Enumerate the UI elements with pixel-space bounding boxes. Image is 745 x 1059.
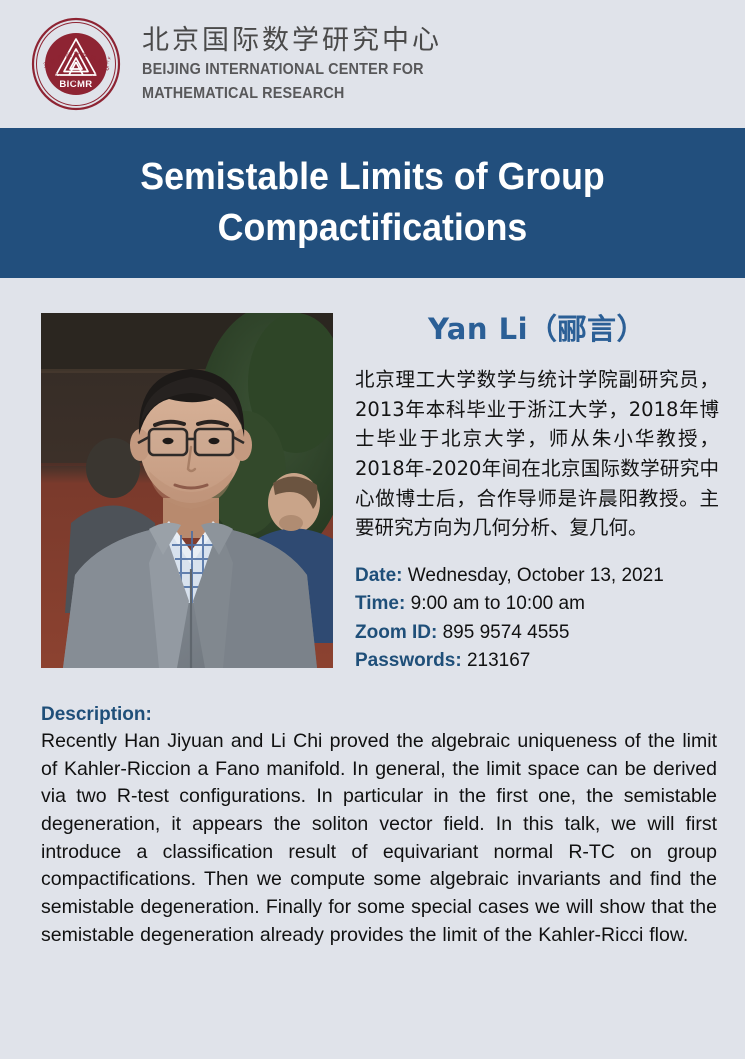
org-name-chinese: 北京国际数学研究中心 [142, 24, 445, 58]
event-details-list: Date: Wednesday, October 13, 2021 Time: … [355, 562, 719, 675]
event-detail-date: Date: Wednesday, October 13, 2021 [355, 562, 719, 590]
date-value: Wednesday, October 13, 2021 [408, 565, 664, 586]
description-section: Description: Recently Han Jiyuan and Li … [0, 676, 745, 950]
zoom-id-value: 895 9574 4555 [443, 622, 570, 643]
event-detail-zoom-id: Zoom ID: 895 9574 4555 [355, 619, 719, 647]
description-heading: Description: [41, 704, 717, 726]
talk-title-banner: Semistable Limits of Group Compactificat… [0, 128, 745, 278]
speaker-bio: 北京理工大学数学与统计学院副研究员，2013年本科毕业于浙江大学，2018年博士… [355, 365, 719, 543]
event-detail-time: Time: 9:00 am to 10:00 am [355, 590, 719, 618]
speaker-section: Yan Li（郦言） 北京理工大学数学与统计学院副研究员，2013年本科毕业于浙… [0, 278, 745, 676]
talk-title: Semistable Limits of Group Compactificat… [74, 152, 671, 253]
date-label: Date: [355, 565, 403, 586]
org-name-english-line1: BEIJING INTERNATIONAL CENTER FOR [142, 58, 424, 82]
speaker-info: Yan Li（郦言） 北京理工大学数学与统计学院副研究员，2013年本科毕业于浙… [333, 306, 719, 676]
speaker-name: Yan Li（郦言） [355, 306, 719, 348]
zoom-id-label: Zoom ID: [355, 622, 437, 643]
event-detail-password: Passwords: 213167 [355, 647, 719, 675]
time-label: Time: [355, 593, 405, 614]
password-value: 213167 [467, 650, 530, 671]
description-body: Recently Han Jiyuan and Li Chi proved th… [41, 728, 717, 950]
bicmr-logo-seal-icon: BICMR 北京国际数学研究中心 BEIJING INTERNATIONAL C… [28, 16, 124, 112]
speaker-photo [41, 313, 333, 668]
poster-header: BICMR 北京国际数学研究中心 BEIJING INTERNATIONAL C… [0, 0, 745, 128]
time-value: 9:00 am to 10:00 am [411, 593, 585, 614]
org-name-english-line2: MATHEMATICAL RESEARCH [142, 82, 424, 106]
password-label: Passwords: [355, 650, 462, 671]
organization-names: 北京国际数学研究中心 BEIJING INTERNATIONAL CENTER … [142, 22, 445, 106]
